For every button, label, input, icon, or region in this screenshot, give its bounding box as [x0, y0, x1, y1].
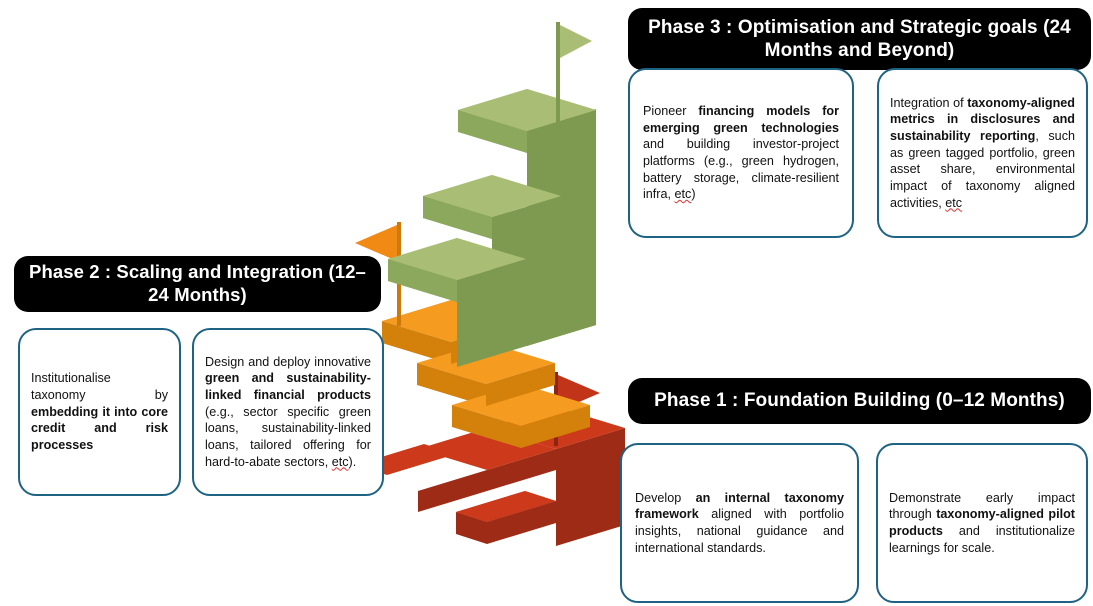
text-run: Design and deploy innovative — [205, 355, 371, 369]
text-run: Develop — [635, 491, 696, 505]
green-mass-upper — [492, 186, 596, 271]
orange-riser-a — [451, 321, 520, 364]
red-block-front — [556, 428, 625, 546]
green-step1-top-overlay — [388, 238, 526, 280]
green-step2-top — [423, 175, 561, 217]
phase-3-card-1-text: Pioneer financing models for emerging gr… — [630, 103, 852, 203]
phase-2-banner-label: Phase 2 : Scaling and Integration (12–24… — [28, 261, 367, 306]
red-block-top — [487, 407, 625, 449]
orange-step1-front — [452, 405, 521, 448]
red-step0-top — [456, 491, 556, 522]
red-step0-tread — [456, 491, 556, 522]
phase-3-banner-label: Phase 3 : Optimisation and Strategic goa… — [642, 16, 1077, 62]
red-step0-front2 — [487, 501, 556, 544]
green-step2-front-overlay — [423, 196, 492, 239]
phase-1-card-2-text: Demonstrate early impact through taxonom… — [878, 490, 1086, 556]
text-run: Institutionalise taxonomy by — [31, 371, 168, 402]
phase-3-banner: Phase 3 : Optimisation and Strategic goa… — [628, 8, 1091, 70]
green-column-front — [458, 261, 527, 366]
phase-3-card-1: Pioneer financing models for emerging gr… — [628, 68, 854, 238]
green-step3-front-overlay — [458, 110, 527, 153]
phase-1-card-1: Develop an internal taxonomy framework a… — [620, 443, 859, 603]
infographic-canvas: Phase 3 : Optimisation and Strategic goa… — [0, 0, 1093, 606]
text-run: Pioneer — [643, 104, 698, 118]
green-step2-front — [423, 196, 492, 239]
green-mass — [457, 238, 596, 367]
orange-step3-top — [382, 300, 520, 342]
green-tall-wall — [527, 109, 596, 346]
text-run-bold: embedding it into core credit and risk p… — [31, 405, 168, 452]
phase-2-banner: Phase 2 : Scaling and Integration (12–24… — [14, 256, 381, 312]
phase-2-card-1-text: Institutionalise taxonomy by embedding i… — [20, 370, 179, 453]
green-step3-top-overlay — [458, 89, 596, 131]
green-body-front — [458, 259, 527, 366]
text-run: ). — [349, 455, 357, 469]
orange-tier — [355, 222, 590, 448]
spellcheck-text-run: etc — [332, 455, 349, 469]
red-step2-top — [418, 428, 556, 470]
text-run: Integration of — [890, 96, 967, 110]
orange-riser-b — [486, 363, 555, 406]
red-step0-front — [456, 512, 487, 544]
phase-1-card-2: Demonstrate early impact through taxonom… — [876, 443, 1088, 603]
green-tier — [388, 22, 596, 367]
orange-riser-c — [521, 405, 590, 448]
red-flag — [554, 372, 600, 446]
text-run-bold: green and sustainability-linked financia… — [205, 371, 371, 402]
spellcheck-text-run: etc — [945, 196, 962, 210]
green-flag — [556, 22, 592, 122]
orange-step3-front — [382, 321, 451, 364]
phase-1-card-1-text: Develop an internal taxonomy framework a… — [622, 490, 857, 556]
orange-step2-front — [417, 363, 486, 406]
orange-step1-top — [452, 384, 590, 426]
green-mass-top — [527, 110, 596, 211]
green-step1-front-overlay — [388, 259, 457, 302]
spellcheck-text-run: etc — [675, 187, 692, 201]
phase-1-banner-label: Phase 1 : Foundation Building (0–12 Mont… — [654, 389, 1065, 412]
green-step1-top — [388, 238, 526, 280]
text-run: ) — [691, 187, 695, 201]
red-step2-front — [487, 449, 556, 491]
green-step2-top-overlay — [423, 175, 561, 217]
red-tier — [355, 372, 625, 546]
green-step1-front — [388, 259, 457, 302]
text-run: and building investor-project platforms … — [643, 137, 839, 201]
phase-2-card-2: Design and deploy innovative green and s… — [192, 328, 384, 496]
phase-2-card-2-text: Design and deploy innovative green and s… — [194, 354, 382, 470]
phase-1-banner: Phase 1 : Foundation Building (0–12 Mont… — [628, 378, 1091, 424]
phase-2-card-1: Institutionalise taxonomy by embedding i… — [18, 328, 181, 496]
green-step3-top — [458, 89, 596, 131]
phase-3-card-2: Integration of taxonomy-aligned metrics … — [877, 68, 1088, 238]
red-step1-front — [418, 470, 487, 512]
orange-step2-top — [417, 342, 555, 384]
phase-3-card-2-text: Integration of taxonomy-aligned metrics … — [879, 95, 1086, 211]
